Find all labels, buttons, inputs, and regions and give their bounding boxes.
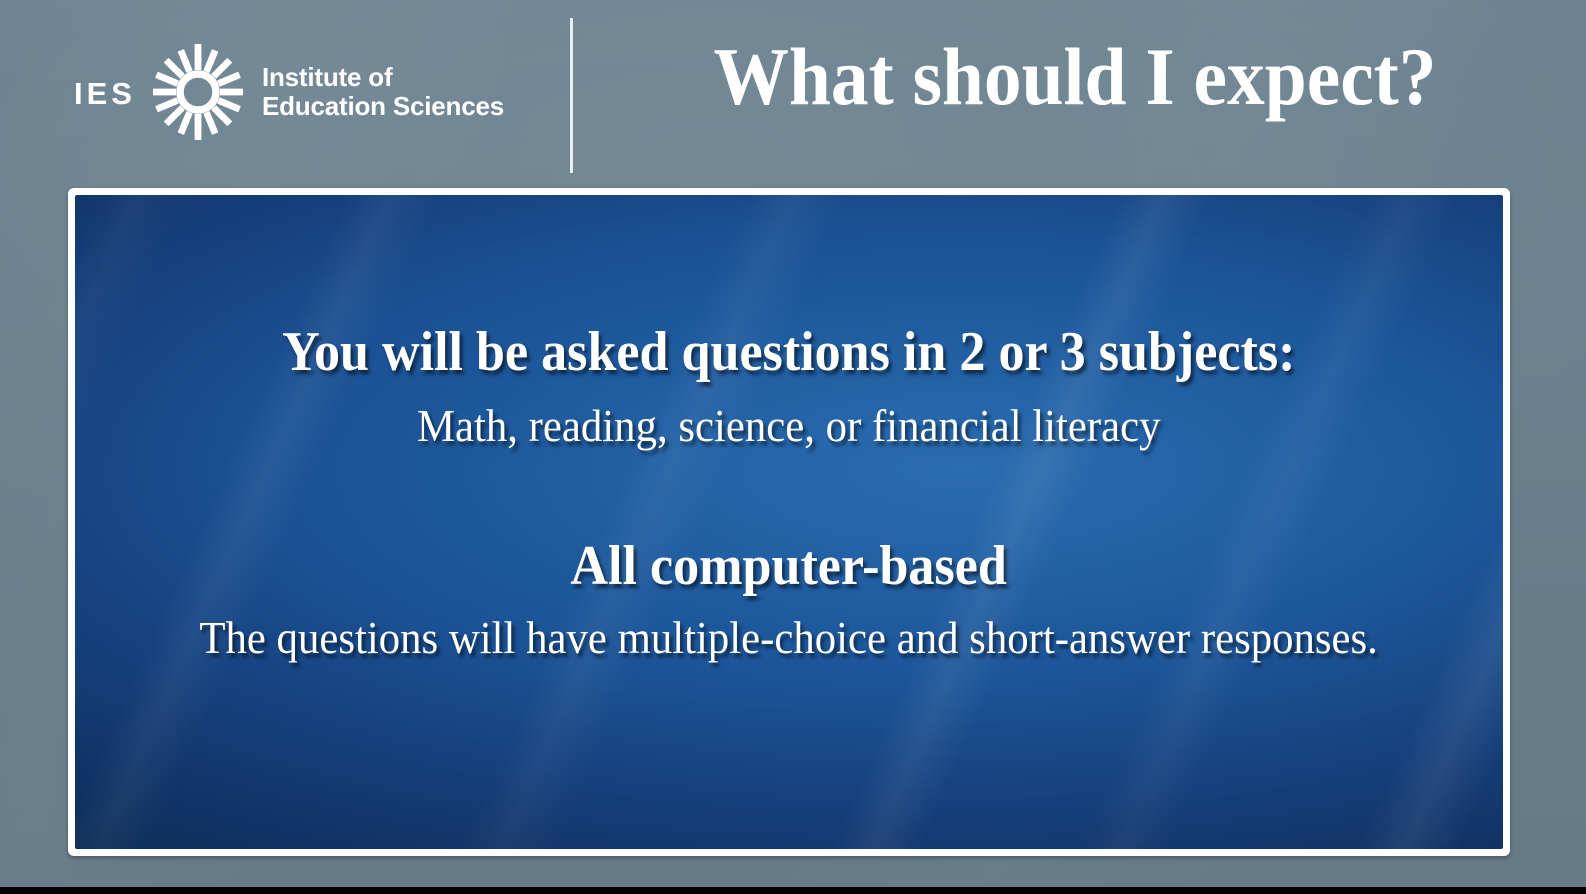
ies-acronym-text: IES [74,78,136,109]
panel-heading-subjects: You will be asked questions in 2 or 3 su… [282,323,1295,382]
content-panel: You will be asked questions in 2 or 3 su… [75,195,1503,849]
panel-text-content: You will be asked questions in 2 or 3 su… [75,195,1503,849]
panel-heading-computer-based: All computer-based [571,537,1007,596]
ies-wordmark: Institute of Education Sciences [262,63,504,121]
ies-wordmark-line-1: Institute of [262,63,504,92]
ies-wordmark-line-2: Education Sciences [262,92,504,121]
bottom-black-strip [0,887,1586,894]
presentation-slide: IES [0,0,1586,894]
content-panel-frame: You will be asked questions in 2 or 3 su… [68,188,1510,856]
slide-header: IES [0,0,1586,186]
header-vertical-divider [570,18,573,173]
panel-subtext-question-types: The questions will have multiple-choice … [200,614,1379,663]
page-title: What should I expect? [638,34,1512,120]
panel-subtext-subject-list: Math, reading, science, or financial lit… [417,402,1161,451]
ies-logo: IES [74,44,504,140]
ies-sunburst-icon [148,42,248,142]
